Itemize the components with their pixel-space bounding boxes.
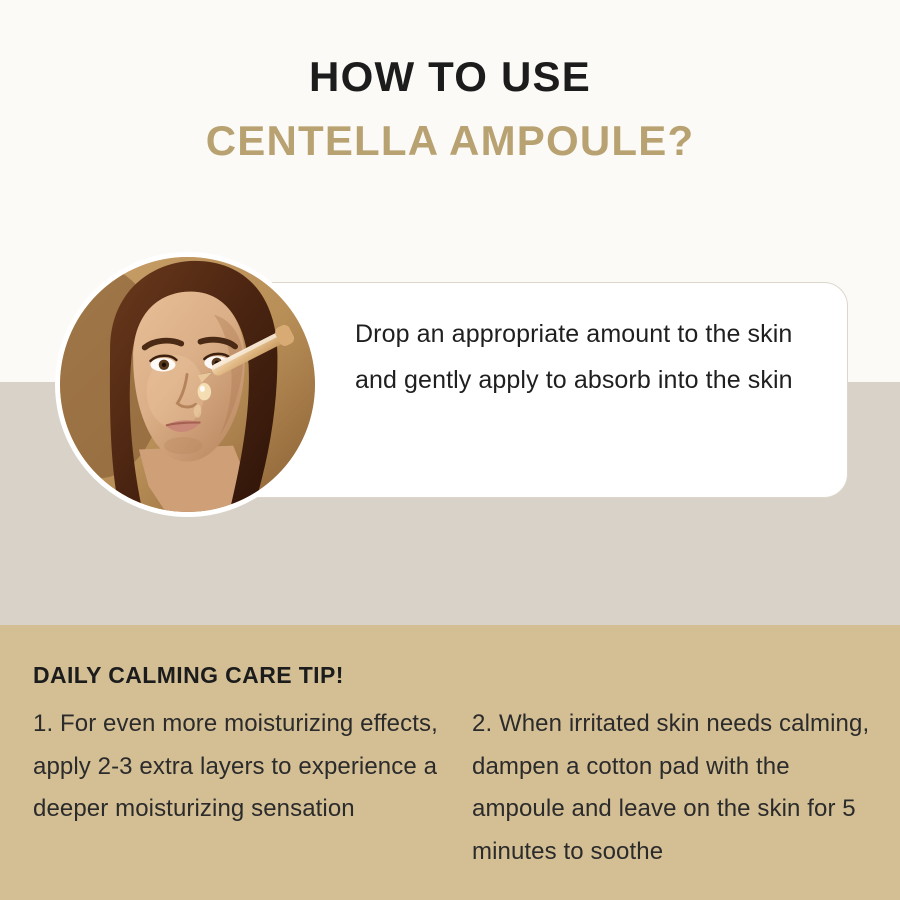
page-title: HOW TO USE CENTELLA AMPOULE? [0,52,900,165]
instruction-text: Drop an appropriate amount to the skin a… [355,311,825,404]
tip-item-2: 2. When irritated skin needs calming, da… [472,703,887,874]
portrait-illustration [60,257,315,512]
tip-item-1: 1. For even more moisturizing effects, a… [33,703,448,831]
title-line-secondary: CENTELLA AMPOULE? [0,116,900,166]
tips-heading: DAILY CALMING CARE TIP! [33,662,344,689]
title-line-primary: HOW TO USE [0,52,900,102]
product-usage-photo [55,252,320,517]
infographic-page: HOW TO USE CENTELLA AMPOULE? Drop an app… [0,0,900,900]
